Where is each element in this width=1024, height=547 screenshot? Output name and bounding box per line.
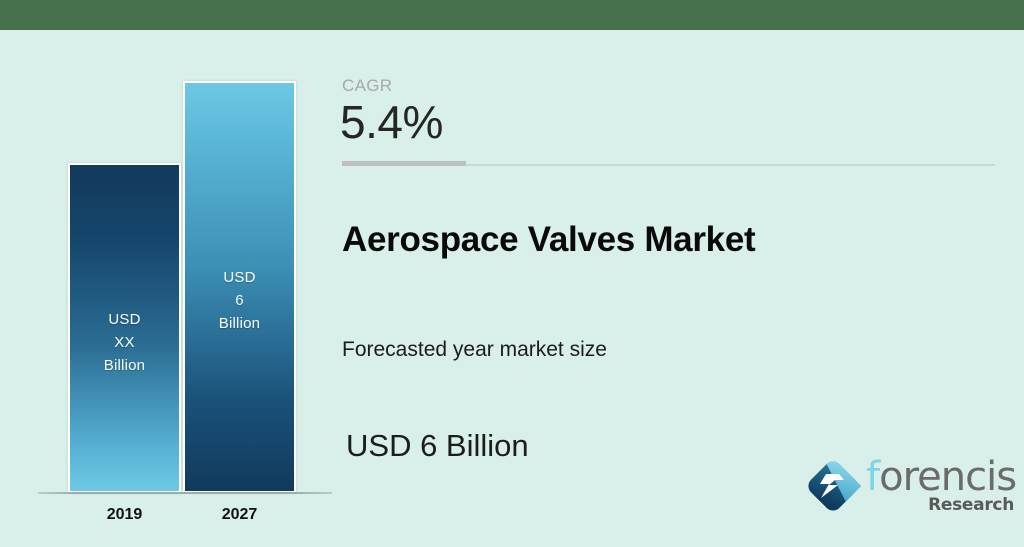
cagr-label: CAGR [342,76,392,96]
brand-logo: forencis Research [804,445,1016,523]
page-title: Aerospace Valves Market [342,220,755,260]
bar-2019-label-line1: USD [70,308,179,331]
bar-2019-label-line3: Billion [70,354,179,377]
x-tick-2019: 2019 [68,506,181,524]
info-panel: CAGR 5.4% Aerospace Valves Market Foreca… [342,30,1024,547]
forecast-caption: Forecasted year market size [342,338,607,362]
x-tick-2027: 2027 [183,506,296,524]
bar-2027-label: USD 6 Billion [185,266,294,335]
bar-2027-label-line3: Billion [185,312,294,335]
header-band [0,0,1024,30]
x-axis-line [38,492,332,494]
x-axis-tick-labels: 2019 2027 [0,506,336,534]
forecast-value: USD 6 Billion [346,428,529,464]
bar-chart: USD XX Billion USD 6 Billion 2019 2027 [0,30,336,547]
brand-wordmark-text: forencis [866,455,1016,499]
chart-plot-area: USD XX Billion USD 6 Billion [0,30,336,493]
divider-accent-segment [342,161,466,166]
bar-2019: USD XX Billion [68,163,181,493]
bar-2027: USD 6 Billion [183,81,296,493]
brand-wordmark-initial: f [866,454,879,500]
bar-2027-label-line2: 6 [185,289,294,312]
brand-wordmark-rest: orencis [879,454,1016,500]
divider-thin-segment [466,164,995,166]
brand-subtitle: Research [866,495,1014,515]
bar-2019-label: USD XX Billion [70,308,179,377]
cagr-value: 5.4% [340,96,443,148]
brand-wordmark: forencis Research [866,455,1016,517]
bar-2019-label-line2: XX [70,331,179,354]
divider [342,161,995,166]
forencis-diamond-bolt-icon [804,457,862,515]
bar-2027-label-line1: USD [185,266,294,289]
